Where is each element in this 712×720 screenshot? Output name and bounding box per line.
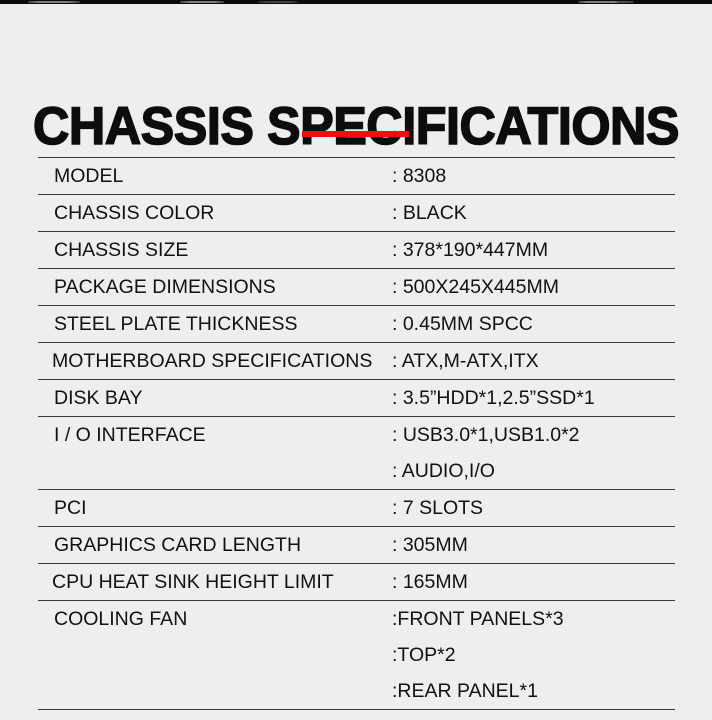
spec-label: CHASSIS COLOR: [38, 195, 392, 231]
spec-value: : 165MM: [392, 564, 675, 600]
spec-value: :REAR PANEL*1: [392, 673, 675, 709]
spec-value: : AUDIO,I/O: [392, 453, 675, 489]
table-row: MOTHERBOARD SPECIFICATIONS: ATX,M-ATX,IT…: [38, 342, 675, 379]
spec-value: : BLACK: [392, 195, 675, 231]
spec-label: MODEL: [38, 158, 392, 194]
strip-highlight: [258, 1, 298, 3]
table-row: GRAPHICS CARD LENGTH: 305MM: [38, 526, 675, 563]
spec-value-group: : ATX,M-ATX,ITX: [392, 343, 675, 379]
table-row: STEEL PLATE THICKNESS: 0.45MM SPCC: [38, 305, 675, 342]
spec-label: MOTHERBOARD SPECIFICATIONS: [38, 343, 392, 379]
spec-value: : USB3.0*1,USB1.0*2: [392, 417, 675, 453]
spec-value-group: : 165MM: [392, 564, 675, 600]
spec-value: :FRONT PANELS*3: [392, 601, 675, 637]
spec-label: PCI: [38, 490, 392, 526]
spec-label: PACKAGE DIMENSIONS: [38, 269, 392, 305]
spec-value-group: : BLACK: [392, 195, 675, 231]
table-row: DISK BAY: 3.5”HDD*1,2.5”SSD*1: [38, 379, 675, 416]
spec-label: I / O INTERFACE: [38, 417, 392, 453]
spec-value: :TOP*2: [392, 637, 675, 673]
spec-label: DISK BAY: [38, 380, 392, 416]
spec-label: COOLING FAN: [38, 601, 392, 637]
spec-label: CHASSIS SIZE: [38, 232, 392, 268]
title-underline-accent: [302, 131, 409, 137]
spec-value: : 378*190*447MM: [392, 232, 675, 268]
strip-highlight: [610, 1, 634, 3]
specifications-table: MODEL: 8308CHASSIS COLOR: BLACKCHASSIS S…: [38, 157, 675, 710]
spec-label: STEEL PLATE THICKNESS: [38, 306, 392, 342]
spec-value-group: : 500X245X445MM: [392, 269, 675, 305]
table-row: COOLING FAN:FRONT PANELS*3:TOP*2:REAR PA…: [38, 600, 675, 710]
spec-value-group: : 8308: [392, 158, 675, 194]
spec-value: : 305MM: [392, 527, 675, 563]
chassis-specifications-page: CHASSIS SPECIFICATIONS MODEL: 8308CHASSI…: [0, 0, 712, 720]
top-edge-strip: [0, 0, 712, 4]
table-row: PACKAGE DIMENSIONS: 500X245X445MM: [38, 268, 675, 305]
table-row: MODEL: 8308: [38, 157, 675, 194]
spec-value: : 500X245X445MM: [392, 269, 675, 305]
table-row: PCI: 7 SLOTS: [38, 489, 675, 526]
spec-label: GRAPHICS CARD LENGTH: [38, 527, 392, 563]
strip-highlight: [180, 1, 224, 3]
spec-value: : ATX,M-ATX,ITX: [392, 343, 675, 379]
spec-value-group: : USB3.0*1,USB1.0*2: AUDIO,I/O: [392, 417, 675, 489]
spec-value: : 3.5”HDD*1,2.5”SSD*1: [392, 380, 675, 416]
table-row: CHASSIS SIZE: 378*190*447MM: [38, 231, 675, 268]
table-row: CHASSIS COLOR: BLACK: [38, 194, 675, 231]
spec-label: CPU HEAT SINK HEIGHT LIMIT: [38, 564, 392, 600]
spec-value-group: : 3.5”HDD*1,2.5”SSD*1: [392, 380, 675, 416]
spec-value: : 7 SLOTS: [392, 490, 675, 526]
strip-highlight: [28, 1, 80, 3]
page-title: CHASSIS SPECIFICATIONS: [18, 99, 694, 155]
spec-value-group: :FRONT PANELS*3:TOP*2:REAR PANEL*1: [392, 601, 675, 709]
spec-value-group: : 378*190*447MM: [392, 232, 675, 268]
table-row: CPU HEAT SINK HEIGHT LIMIT: 165MM: [38, 563, 675, 600]
spec-value-group: : 305MM: [392, 527, 675, 563]
spec-value-group: : 0.45MM SPCC: [392, 306, 675, 342]
spec-value-group: : 7 SLOTS: [392, 490, 675, 526]
table-row: I / O INTERFACE: USB3.0*1,USB1.0*2: AUDI…: [38, 416, 675, 489]
spec-value: : 8308: [392, 158, 675, 194]
spec-value: : 0.45MM SPCC: [392, 306, 675, 342]
